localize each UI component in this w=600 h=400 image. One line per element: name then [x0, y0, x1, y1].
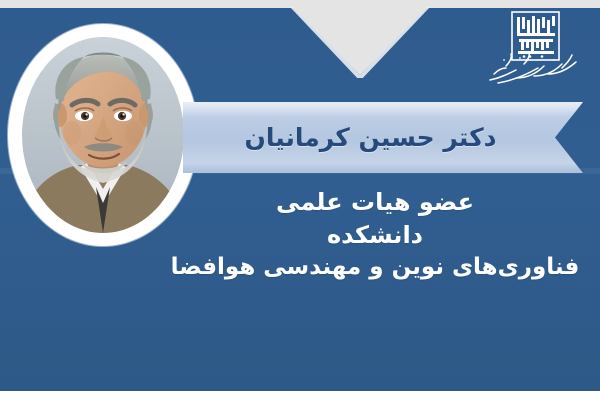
affiliation-line-2: دانشکده — [160, 219, 590, 252]
profile-card: دکتر حسین کرمانیان عضو هیات علمی دانشکده… — [0, 0, 600, 400]
bottom-edge-band — [0, 391, 600, 400]
affiliation-line-1: عضو هیات علمی — [160, 186, 590, 219]
person-name: دکتر حسین کرمانیان — [183, 102, 558, 173]
affiliation-block: عضو هیات علمی دانشکده فناوری‌های نوین و … — [160, 186, 590, 284]
university-logo — [486, 8, 594, 93]
affiliation-line-3: فناوری‌های نوین و مهندسی هوافضا — [160, 252, 590, 284]
